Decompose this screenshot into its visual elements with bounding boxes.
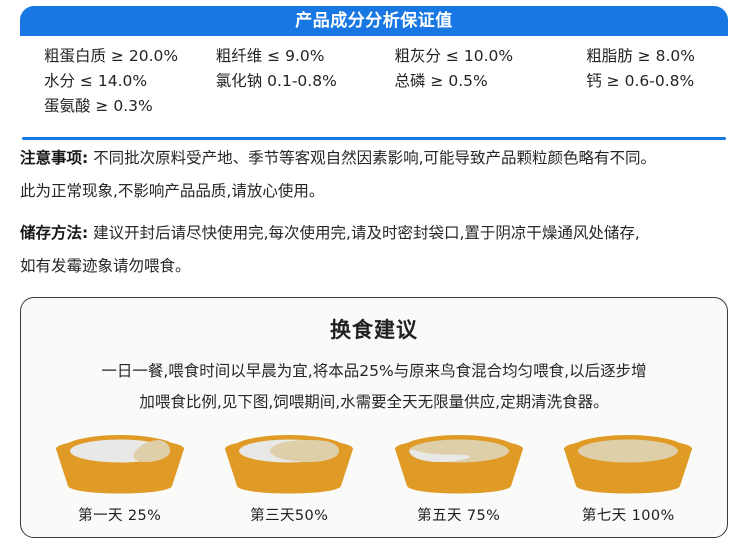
nutrition-item: 水分 ≤ 14.0% xyxy=(44,69,186,94)
nutrition-body: 粗蛋白质 ≥ 20.0% 水分 ≤ 14.0% 蛋氨酸 ≥ 0.3% 粗纤维 ≤… xyxy=(20,36,728,136)
nutrition-item: 钙 ≥ 0.6-0.8% xyxy=(586,69,728,94)
feeding-step-label: 第三天50% xyxy=(205,504,375,525)
feeding-advice-box: 换食建议 一日一餐,喂食时间以早晨为宜,将本品25%与原来鸟食混合均匀喂食,以后… xyxy=(20,297,728,538)
feeding-advice-line-2: 加喂食比例,见下图,饲喂期间,水需要全天无限量供应,定期清洗食器。 xyxy=(47,387,701,418)
nutrition-item: 粗灰分 ≤ 10.0% xyxy=(395,44,537,69)
storage-text-1: 建议开封后请尽快使用完,每次使用完,请及时密封袋口,置于阴凉干燥通风处储存, xyxy=(88,224,640,242)
feeding-step: 第一天 25% xyxy=(35,428,205,525)
feeding-advice-title: 换食建议 xyxy=(21,314,727,344)
nutrition-column-4: 粗脂肪 ≥ 8.0% 钙 ≥ 0.6-0.8% xyxy=(536,44,728,119)
feeding-step-label: 第七天 100% xyxy=(544,504,714,525)
nutrition-item: 总磷 ≥ 0.5% xyxy=(395,69,537,94)
storage-line-2: 如有发霉迹象请勿喂食。 xyxy=(20,250,732,283)
nutrition-item: 粗纤维 ≤ 9.0% xyxy=(216,44,358,69)
nutrition-item: 粗蛋白质 ≥ 20.0% xyxy=(44,44,186,69)
feeding-step-label: 第一天 25% xyxy=(35,504,205,525)
attention-line-2: 此为正常现象,不影响产品品质,请放心使用。 xyxy=(20,175,732,208)
bowl-50-percent-icon xyxy=(217,428,361,500)
nutrition-panel: 产品成分分析保证值 粗蛋白质 ≥ 20.0% 水分 ≤ 14.0% 蛋氨酸 ≥ … xyxy=(20,6,728,136)
nutrition-columns: 粗蛋白质 ≥ 20.0% 水分 ≤ 14.0% 蛋氨酸 ≥ 0.3% 粗纤维 ≤… xyxy=(20,44,728,119)
nutrition-bottom-rule xyxy=(22,137,726,140)
attention-note: 注意事项: 不同批次原料受产地、季节等客观自然因素影响,可能导致产品颗粒颜色略有… xyxy=(20,142,732,208)
nutrition-item: 蛋氨酸 ≥ 0.3% xyxy=(44,94,186,119)
notes-section: 注意事项: 不同批次原料受产地、季节等客观自然因素影响,可能导致产品颗粒颜色略有… xyxy=(20,142,732,292)
storage-line-1: 储存方法: 建议开封后请尽快使用完,每次使用完,请及时密封袋口,置于阴凉干燥通风… xyxy=(20,217,732,250)
feeding-advice-line-1: 一日一餐,喂食时间以早晨为宜,将本品25%与原来鸟食混合均匀喂食,以后逐步增 xyxy=(47,356,701,387)
nutrition-column-3: 粗灰分 ≤ 10.0% 总磷 ≥ 0.5% xyxy=(358,44,537,119)
attention-label: 注意事项: xyxy=(20,149,88,167)
feeding-schedule-bowls: 第一天 25% 第三天50% 第五天 75% xyxy=(21,428,727,525)
feeding-step: 第三天50% xyxy=(205,428,375,525)
bowl-100-percent-icon xyxy=(556,428,700,500)
feeding-step: 第五天 75% xyxy=(374,428,544,525)
feeding-step-label: 第五天 75% xyxy=(374,504,544,525)
nutrition-column-2: 粗纤维 ≤ 9.0% 氯化钠 0.1-0.8% xyxy=(186,44,358,119)
storage-label: 储存方法: xyxy=(20,224,88,242)
nutrition-header-title: 产品成分分析保证值 xyxy=(20,6,728,36)
attention-line-1: 注意事项: 不同批次原料受产地、季节等客观自然因素影响,可能导致产品颗粒颜色略有… xyxy=(20,142,732,175)
nutrition-column-1: 粗蛋白质 ≥ 20.0% 水分 ≤ 14.0% 蛋氨酸 ≥ 0.3% xyxy=(20,44,186,119)
feeding-step: 第七天 100% xyxy=(544,428,714,525)
bowl-75-percent-icon xyxy=(387,428,531,500)
storage-note: 储存方法: 建议开封后请尽快使用完,每次使用完,请及时密封袋口,置于阴凉干燥通风… xyxy=(20,217,732,283)
attention-text-1: 不同批次原料受产地、季节等客观自然因素影响,可能导致产品颗粒颜色略有不同。 xyxy=(88,149,656,167)
bowl-25-percent-icon xyxy=(48,428,192,500)
nutrition-item: 粗脂肪 ≥ 8.0% xyxy=(586,44,728,69)
nutrition-item: 氯化钠 0.1-0.8% xyxy=(216,69,358,94)
